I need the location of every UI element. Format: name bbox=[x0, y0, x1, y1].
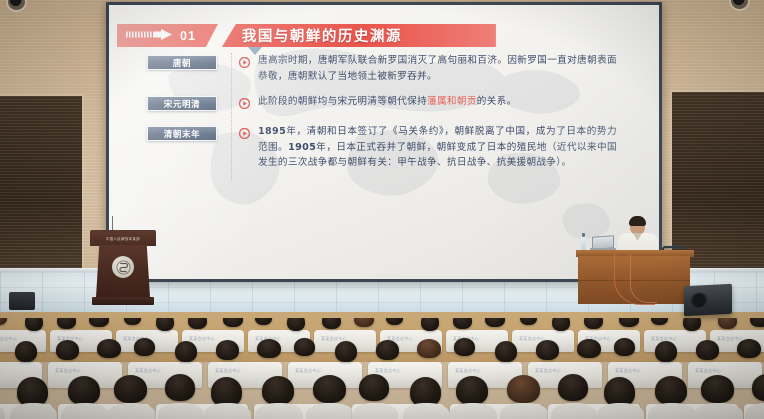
era-text-song-yuan-ming-qing: 此阶段的朝鲜均与宋元明清等朝代保持藩属和朝贡的关系。 bbox=[258, 94, 617, 110]
audience-head bbox=[57, 318, 76, 329]
audience-head bbox=[619, 318, 639, 327]
audience-head bbox=[718, 318, 737, 329]
audience-head bbox=[655, 341, 677, 362]
slide-row-tang: 唐朝 唐高宗时期，唐朝军队联合新罗国消灭了高句丽和百济。因新罗国一直对唐朝表面恭… bbox=[147, 53, 617, 84]
audience-head bbox=[68, 376, 100, 405]
audience-head bbox=[56, 340, 79, 360]
microphone-icon bbox=[112, 216, 113, 231]
audience-head bbox=[417, 339, 441, 358]
screenshot-frame: 01 我国与朝鲜的历史渊源 唐朝 bbox=[0, 0, 764, 419]
seated-audience: 某某会议中心某某会议中心某某会议中心某某会议中心某某会议中心某某会议中心某某会议… bbox=[0, 318, 764, 419]
audience-head bbox=[696, 340, 719, 360]
era-text-segment: 的关系。 bbox=[477, 96, 517, 107]
audience-head bbox=[175, 341, 197, 362]
audience-head bbox=[507, 375, 540, 403]
audience-shoulders bbox=[204, 403, 251, 419]
seat-logo-text: 某某会议中心 bbox=[135, 368, 161, 374]
presenter-hair bbox=[629, 216, 646, 226]
audience-head bbox=[255, 318, 272, 325]
audience-head bbox=[577, 339, 601, 358]
seat-logo-text: 某某会议中心 bbox=[0, 336, 17, 342]
slide-header: 01 我国与朝鲜的历史渊源 bbox=[117, 24, 496, 47]
audience-head bbox=[322, 318, 341, 329]
audience-head bbox=[156, 318, 174, 331]
audience-head bbox=[520, 318, 537, 325]
audience-shoulders bbox=[61, 403, 109, 419]
projection-screen-frame: 01 我国与朝鲜的历史渊源 唐朝 bbox=[106, 2, 662, 282]
audience-shoulders bbox=[107, 403, 156, 419]
seat-logo-text: 某某会议中心 bbox=[695, 368, 721, 374]
seat-logo-text: 某某会议中心 bbox=[215, 368, 241, 374]
lectern-plaque-text: 中国人民解放军某部 bbox=[106, 236, 140, 241]
audience-head bbox=[683, 318, 701, 331]
seat-logo-text: 某某会议中心 bbox=[189, 336, 215, 342]
audience-head bbox=[257, 339, 281, 358]
slide-number-label: 01 bbox=[180, 29, 196, 43]
era-tag-label: 清朝末年 bbox=[164, 128, 200, 140]
audience-head bbox=[651, 318, 668, 325]
audience-head bbox=[287, 318, 305, 331]
lectern: 中国人民解放军某部 bbox=[88, 230, 158, 310]
lectern-plaque: 中国人民解放军某部 bbox=[90, 230, 156, 246]
audience-head bbox=[495, 341, 517, 362]
era-tag-label: 唐朝 bbox=[173, 57, 191, 69]
audience-shoulders bbox=[403, 403, 450, 419]
era-text-year: 1895 bbox=[258, 126, 286, 137]
audience-head bbox=[737, 339, 761, 358]
slide-number-badge: 01 bbox=[117, 24, 218, 47]
audience-head bbox=[359, 374, 389, 401]
era-text-segment: 此阶段的朝鲜均与宋元明清等朝代保持 bbox=[258, 96, 427, 107]
audience-shoulders bbox=[648, 403, 696, 419]
audience-head bbox=[165, 374, 195, 401]
audience-shoulders bbox=[597, 403, 644, 419]
era-text-late-qing: 1895年，清朝和日本签订了《马关条约》，朝鲜脱离了中国，成为了日本的势力范围。… bbox=[258, 124, 617, 171]
audience-head bbox=[386, 318, 403, 325]
seat-logo-text: 某某会议中心 bbox=[455, 368, 481, 374]
audience-head bbox=[558, 374, 588, 401]
era-text-tang: 唐高宗时期，唐朝军队联合新罗国消灭了高句丽和百济。因新罗国一直对唐朝表面恭敬，唐… bbox=[258, 53, 617, 84]
seat-logo-text: 某某会议中心 bbox=[295, 368, 321, 374]
audience-head bbox=[97, 339, 121, 358]
audience-head bbox=[335, 341, 357, 362]
slide-title: 我国与朝鲜的历史渊源 bbox=[242, 25, 402, 46]
audience-head bbox=[0, 318, 7, 325]
audience-head bbox=[655, 376, 687, 405]
audience-head bbox=[421, 318, 439, 331]
audience-head bbox=[188, 318, 207, 329]
audience-head bbox=[454, 338, 475, 356]
play-circle-icon bbox=[239, 55, 250, 73]
audience-head bbox=[584, 318, 603, 329]
audience-head bbox=[89, 318, 109, 327]
audience-head bbox=[750, 318, 764, 327]
audience-head bbox=[354, 318, 374, 327]
audience-shoulders bbox=[158, 403, 204, 419]
audience-shoulders bbox=[551, 403, 597, 419]
slide-row-late-qing: 清朝末年 1895年，清朝和日本签订了《马关条约》，朝鲜脱离了中国，成为了日本的… bbox=[147, 124, 617, 171]
era-text-highlight: 藩属和朝贡 bbox=[427, 96, 477, 107]
seat-logo-text: 某某会议中心 bbox=[615, 368, 641, 374]
audience-head bbox=[134, 338, 155, 356]
slide-row-song-yuan-ming-qing: 宋元明清 此阶段的朝鲜均与宋元明清等朝代保持藩属和朝贡的关系。 bbox=[147, 94, 617, 114]
lectern-base bbox=[92, 297, 154, 305]
audience-head bbox=[124, 318, 141, 325]
audience-shoulders bbox=[500, 403, 549, 419]
audience-head bbox=[536, 340, 559, 360]
play-circle-icon bbox=[239, 126, 250, 144]
striped-arrow-icon bbox=[126, 27, 172, 45]
audience-shoulders bbox=[255, 403, 303, 419]
audience-head bbox=[216, 340, 239, 360]
seat-logo-text: 某某会议中心 bbox=[0, 368, 1, 374]
audience-shoulders bbox=[306, 403, 355, 419]
audience-head bbox=[456, 376, 488, 405]
slide-title-banner: 我国与朝鲜的历史渊源 bbox=[222, 24, 496, 47]
power-cable bbox=[630, 254, 657, 303]
seat-logo-text: 某某会议中心 bbox=[717, 336, 743, 342]
audience-head bbox=[376, 340, 399, 360]
audience-head bbox=[262, 376, 294, 405]
era-text-segment: 唐高宗时期，唐朝军队联合新罗国消灭了高句丽和百济。因新罗国一直对唐朝表面恭敬，唐… bbox=[258, 55, 617, 82]
institution-logo-icon bbox=[112, 256, 134, 278]
audience-head bbox=[15, 341, 37, 362]
floor-speaker-icon bbox=[684, 284, 732, 317]
audience-head bbox=[485, 318, 505, 327]
seat-logo-text: 某某会议中心 bbox=[375, 368, 401, 374]
audience-shoulders bbox=[694, 403, 743, 419]
audience-head bbox=[25, 318, 43, 331]
audience-head bbox=[313, 375, 346, 403]
era-text-year: 1905 bbox=[288, 142, 316, 153]
audience-shoulders bbox=[10, 403, 57, 419]
era-tag-label: 宋元明清 bbox=[164, 98, 200, 110]
slide-body: 唐朝 唐高宗时期，唐朝军队联合新罗国消灭了高句丽和百济。因新罗国一直对唐朝表面恭… bbox=[147, 53, 617, 181]
audience-head bbox=[614, 338, 635, 356]
seat-logo-text: 某某会议中心 bbox=[55, 368, 81, 374]
era-tag-late-qing: 清朝末年 bbox=[147, 126, 217, 141]
play-circle-icon bbox=[239, 96, 250, 114]
era-tag-tang: 唐朝 bbox=[147, 55, 217, 70]
audience-head bbox=[453, 318, 472, 329]
audience-head bbox=[294, 338, 315, 356]
audience-shoulders bbox=[352, 403, 398, 419]
audience-shoulders bbox=[449, 403, 497, 419]
seat-logo-text: 某某会议中心 bbox=[535, 368, 561, 374]
floor-speaker-icon bbox=[9, 292, 35, 310]
audience-head bbox=[114, 375, 147, 403]
audience-head bbox=[701, 375, 734, 403]
audience-head bbox=[223, 318, 243, 327]
era-tag-song-yuan-ming-qing: 宋元明清 bbox=[147, 96, 217, 111]
audience-head bbox=[552, 318, 570, 331]
projected-slide: 01 我国与朝鲜的历史渊源 唐朝 bbox=[109, 5, 659, 279]
wall-panel-left bbox=[0, 96, 82, 290]
